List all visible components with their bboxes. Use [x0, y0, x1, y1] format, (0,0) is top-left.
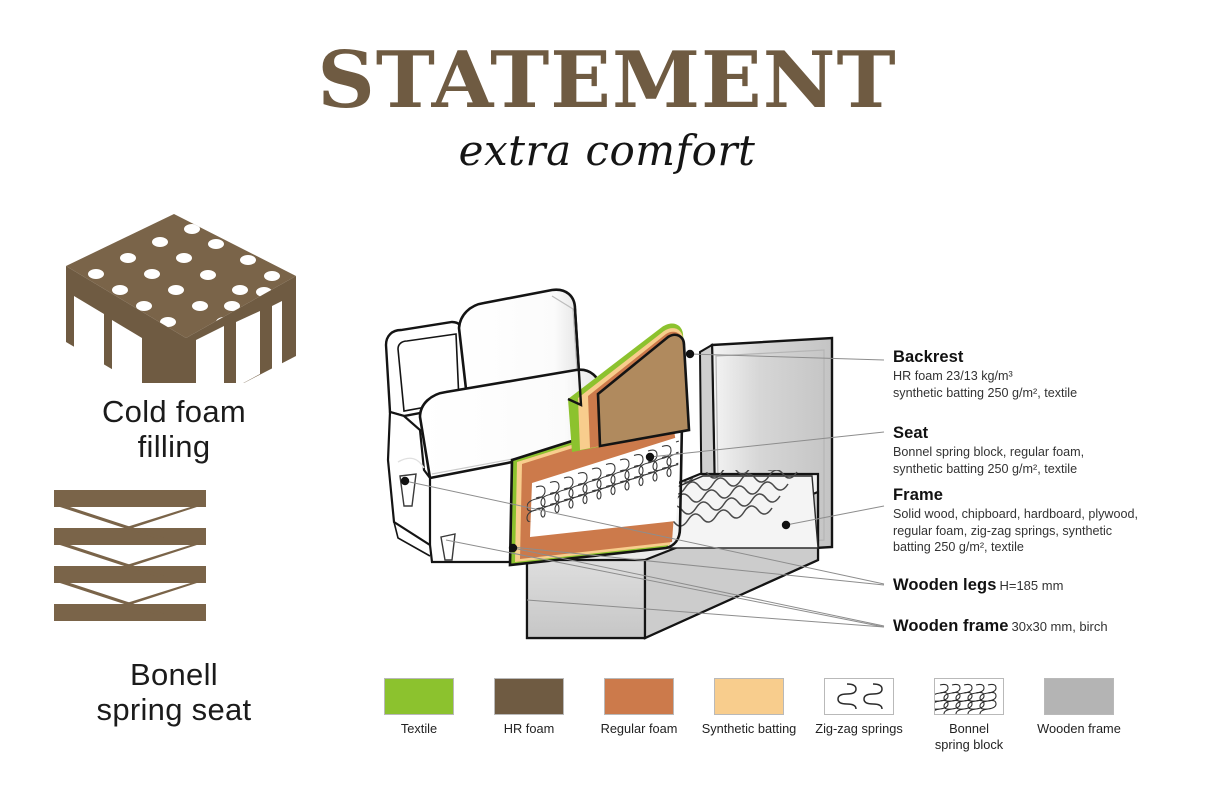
page-subtitle: extra comfort [0, 126, 1214, 175]
spec-body-frame: Solid wood, chipboard, hardboard, plywoo… [893, 506, 1138, 556]
bonell-spring-icon [24, 482, 324, 642]
cold-foam-block-icon [24, 198, 324, 383]
legend-swatch-synthetic-batting [714, 678, 784, 715]
title-block: STATEMENT extra comfort [0, 44, 1214, 175]
feature-cold-foam: Cold foam filling [24, 198, 324, 464]
spec-title-backrest: Backrest [893, 348, 964, 366]
legend-swatch-hr-foam [494, 678, 564, 715]
spec-title-seat: Seat [893, 424, 928, 442]
cold-foam-caption: Cold foam filling [24, 394, 324, 464]
spec-item-seat: Seat Bonnel spring block, regular foam, … [893, 424, 1084, 477]
feature-bonell: Bonell spring seat [24, 482, 324, 727]
legend-swatch-textile [384, 678, 454, 715]
bonnel-spring-block-glyph [935, 679, 1003, 714]
bonell-caption: Bonell spring seat [24, 657, 324, 727]
legend-swatch-regular-foam [604, 678, 674, 715]
spec-item-frame: Frame Solid wood, chipboard, hardboard, … [893, 486, 1138, 556]
spec-inline-wooden-legs: H=185 mm [999, 578, 1063, 593]
spec-item-backrest: Backrest HR foam 23/13 kg/m³ synthetic b… [893, 348, 1077, 401]
legend-swatch-bonnel-spring-block [934, 678, 1004, 715]
legend-item-wooden-frame: Wooden frame [1014, 678, 1144, 737]
spec-inline-wooden-frame: 30x30 mm, birch [1012, 619, 1108, 634]
spec-body-backrest: HR foam 23/13 kg/m³ synthetic batting 25… [893, 368, 1077, 401]
page-title: STATEMENT [0, 44, 1214, 118]
spec-title-wooden-legs: Wooden legs [893, 576, 996, 594]
leader-dots [401, 350, 790, 552]
spec-title-frame: Frame [893, 486, 943, 504]
spec-body-seat: Bonnel spring block, regular foam, synth… [893, 444, 1084, 477]
legend-swatch-zig-zag-springs [824, 678, 894, 715]
legend: Textile HR foam Regular foam Synthetic b… [372, 678, 1202, 763]
spec-title-wooden-frame: Wooden frame [893, 617, 1009, 635]
zig-zag-spring-glyph [825, 679, 893, 714]
legend-label-wooden-frame: Wooden frame [1014, 721, 1144, 737]
legend-swatch-wooden-frame [1044, 678, 1114, 715]
infographic-page: STATEMENT extra comfort [0, 0, 1214, 791]
spec-item-wooden-frame: Wooden frame30x30 mm, birch [893, 617, 1108, 636]
spec-item-wooden-legs: Wooden legsH=185 mm [893, 576, 1063, 595]
